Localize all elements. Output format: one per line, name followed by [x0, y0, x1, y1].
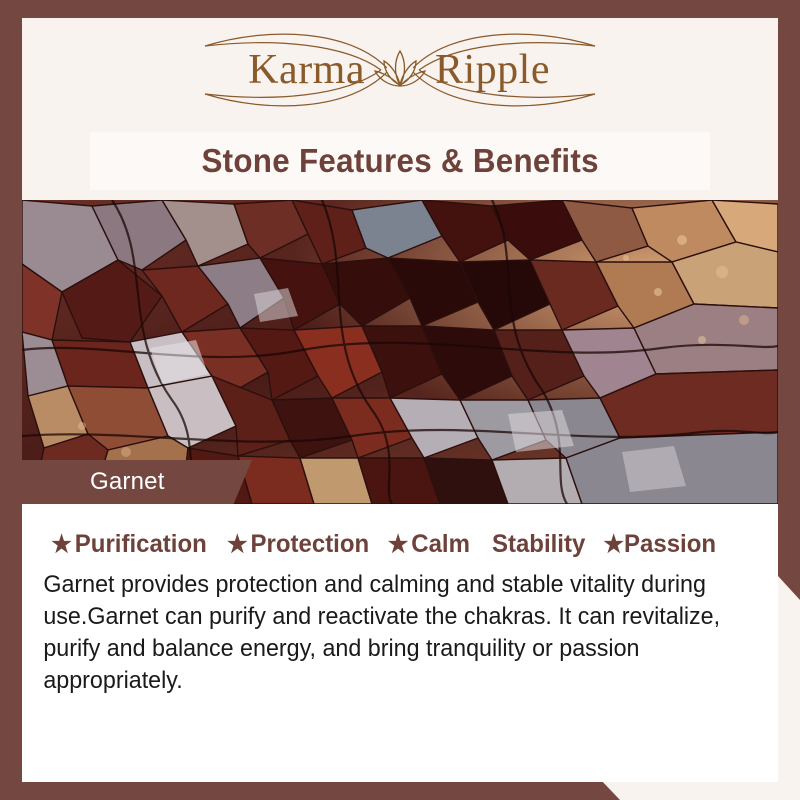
stone-description: Garnet provides protection and calming a… — [22, 559, 755, 697]
star-icon: ★ — [388, 533, 409, 557]
brand-logo: Karma Ripple — [22, 18, 778, 122]
benefit-passion: ★ Passion — [603, 530, 716, 559]
benefit-label: Stability — [492, 530, 585, 559]
lotus-icon — [371, 47, 429, 93]
brand-word-ripple: Ripple — [429, 49, 625, 91]
brand-word-karma: Karma — [175, 49, 371, 91]
stone-name-label: Garnet — [22, 468, 165, 496]
benefit-label: Passion — [624, 530, 716, 559]
star-icon: ★ — [51, 533, 72, 557]
benefit-purification: ★ Purification — [51, 530, 207, 559]
content-panel: ★ Purification ★ Protection ★ Calm Stabi… — [22, 504, 778, 782]
stone-info-card: Karma Ripple Stone F — [0, 0, 800, 800]
frame-border-left — [0, 0, 22, 800]
frame-border-top — [0, 0, 800, 18]
frame-border-right — [778, 0, 800, 600]
benefits-row: ★ Purification ★ Protection ★ Calm Stabi… — [22, 504, 778, 559]
page-title: Stone Features & Benefits — [201, 142, 598, 180]
section-title-band: Stone Features & Benefits — [22, 122, 778, 200]
star-icon: ★ — [603, 533, 624, 557]
benefit-label: Protection — [251, 530, 370, 559]
benefit-calm: ★ Calm — [388, 530, 470, 559]
garnet-photo-graphic — [22, 200, 778, 504]
benefit-label: Calm — [411, 530, 470, 559]
page-body: Karma Ripple Stone F — [22, 18, 778, 782]
benefit-protection: ★ Protection — [227, 530, 369, 559]
stone-name-banner: Garnet — [22, 460, 252, 504]
benefit-label: Purification — [75, 530, 207, 559]
section-title-plate: Stone Features & Benefits — [90, 132, 710, 190]
star-icon: ★ — [227, 533, 248, 557]
garnet-crystal-photo: Garnet — [22, 200, 778, 504]
benefit-stability: Stability — [492, 530, 585, 559]
